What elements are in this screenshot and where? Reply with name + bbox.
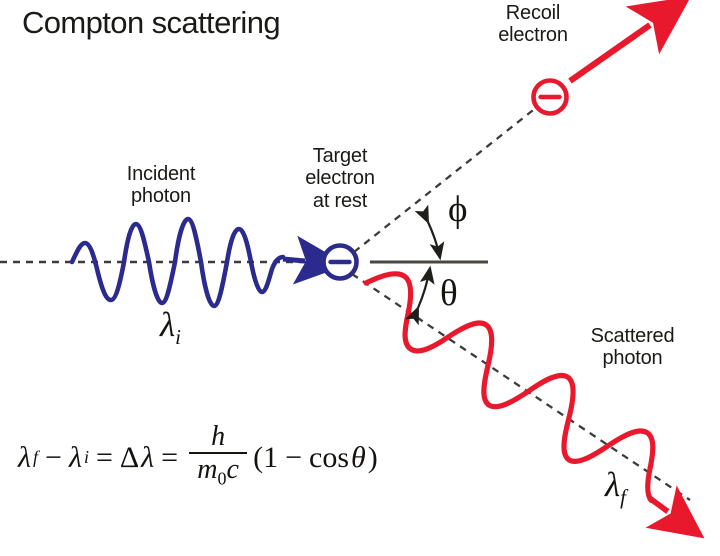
eq-minus-2: −	[280, 441, 307, 475]
eq-lambda-f-sub: f	[33, 447, 38, 468]
lambda-initial-symbol: λi	[160, 305, 181, 350]
angle-phi-symbol: ϕ	[448, 188, 467, 231]
angle-theta-symbol: θ	[440, 272, 458, 315]
incident-photon-wave	[72, 219, 283, 306]
eq-denominator-c: c	[226, 454, 238, 485]
label-recoil-electron: Recoil electron	[473, 2, 593, 47]
eq-cos: cos	[309, 441, 349, 475]
eq-delta-lambda: λ	[141, 441, 154, 475]
lambda-final-glyph: λ	[605, 465, 620, 504]
angle-phi-arc-arrow	[428, 222, 440, 258]
eq-paren-open: (1	[253, 441, 278, 475]
incident-photon-arrow	[283, 259, 305, 261]
eq-delta: Δ	[120, 441, 139, 475]
eq-fraction: h m0c	[189, 423, 247, 488]
eq-lambda-i-sub: i	[84, 447, 89, 468]
eq-denominator-m: m	[197, 454, 217, 485]
eq-lambda-f: λ	[18, 441, 31, 475]
eq-equals-2: =	[156, 441, 183, 475]
scattered-trajectory-dashed	[352, 274, 690, 500]
eq-numerator-h: h	[203, 423, 233, 452]
label-incident-photon: Incident photon	[96, 163, 226, 208]
eq-denominator: m0c	[191, 454, 245, 488]
scattered-photon-wave-group	[347, 255, 699, 522]
lambda-final-symbol: λf	[605, 465, 626, 510]
eq-equals-1: =	[91, 441, 118, 475]
eq-theta: θ	[351, 441, 366, 475]
compton-shift-equation: λf − λi = Δλ = h m0c (1 − cos θ)	[18, 425, 378, 490]
label-target-electron: Target electron at rest	[280, 145, 400, 212]
angle-theta-arc-arrow	[418, 268, 430, 308]
eq-lambda-i: λ	[69, 441, 82, 475]
page-title: Compton scattering	[22, 6, 280, 41]
lambda-final-subscript: f	[620, 485, 626, 509]
scattered-photon-arrow	[649, 498, 669, 512]
label-scattered-photon: Scattered photon	[570, 325, 695, 370]
lambda-initial-glyph: λ	[160, 305, 175, 344]
eq-minus-1: −	[40, 441, 67, 475]
eq-paren-close: )	[368, 441, 378, 475]
compton-scattering-diagram: Compton scattering Incident photon Targe…	[0, 0, 720, 556]
lambda-initial-subscript: i	[175, 325, 181, 349]
